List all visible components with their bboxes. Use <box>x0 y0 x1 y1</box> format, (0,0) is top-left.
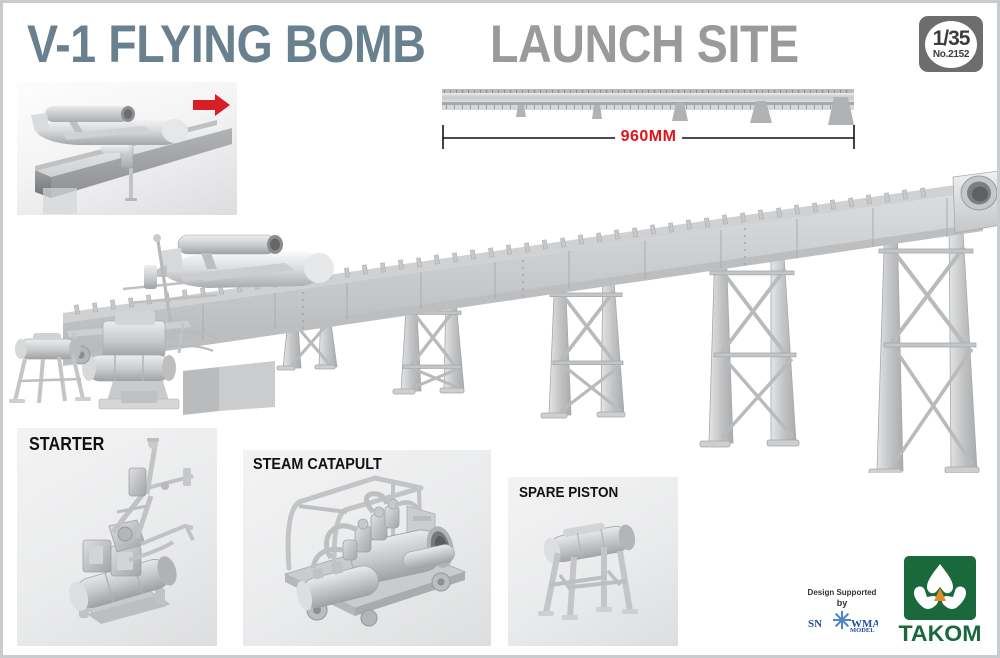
design-supported-label: Design Supported <box>806 588 878 598</box>
v1-flying-bomb <box>153 235 334 288</box>
panel-label-steam-catapult: STEAM CATAPULT <box>253 456 382 474</box>
panel-steam-catapult <box>243 450 491 646</box>
title-main: V-1 FLYING BOMB <box>27 17 426 73</box>
takom-logo: TAKOM <box>892 556 988 648</box>
spare-piston-stand <box>9 333 91 403</box>
takom-wordmark: TAKOM <box>890 623 991 645</box>
ramp-end-housing <box>953 171 1000 233</box>
starter-illustration <box>17 428 217 646</box>
panel-starter <box>17 428 217 646</box>
snowflake-icon <box>833 611 851 629</box>
design-supported-by: by <box>806 598 878 609</box>
trestle-5 <box>869 215 979 473</box>
steam-catapult-illustration <box>243 450 491 646</box>
takom-logo-mark <box>904 556 976 620</box>
trestle-4 <box>700 241 799 447</box>
design-credit: Design Supported by SN WMAN MODEL <box>806 588 878 637</box>
title-sub: LAUNCH SITE <box>490 17 799 73</box>
launch-ramp-assembly <box>3 153 1000 473</box>
dimension-callout: 960MM <box>436 81 861 153</box>
scale-badge-circle: 1/35 No.2152 <box>925 21 977 68</box>
spare-piston-illustration <box>508 477 678 646</box>
kit-number: No.2152 <box>933 50 969 60</box>
ramp-side-profile <box>442 89 854 125</box>
scale-value: 1/35 <box>933 28 970 49</box>
panel-spare-piston <box>508 477 678 646</box>
main-illustration <box>3 153 1000 473</box>
dimension-label: 960MM <box>615 128 683 146</box>
snowman-logo-sub: MODEL <box>850 627 875 632</box>
snowman-logo-left: SN <box>808 618 822 630</box>
direction-arrow-icon <box>193 94 230 116</box>
snowman-logo-graphic: SN WMAN MODEL <box>806 610 878 632</box>
takom-trefoil-icon <box>904 556 976 620</box>
page-title: V-1 FLYING BOMBLAUNCH SITE <box>27 17 841 73</box>
scale-badge: 1/35 No.2152 <box>919 16 983 72</box>
panel-label-spare-piston: SPARE PISTON <box>519 484 618 501</box>
snowman-model-logo: SN WMAN MODEL <box>806 610 878 637</box>
panel-label-starter: STARTER <box>29 434 104 455</box>
box-art-canvas: V-1 FLYING BOMBLAUNCH SITE 1/35 No.2152 <box>0 0 1000 658</box>
